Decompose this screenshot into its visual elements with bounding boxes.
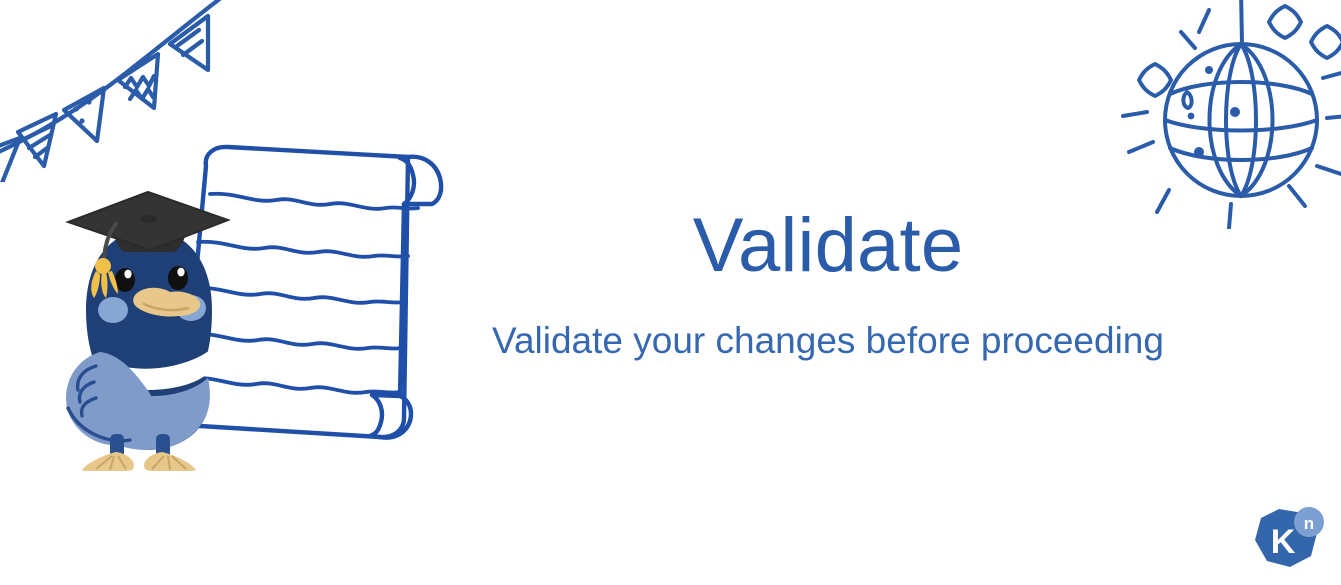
knative-logo: K n [1249, 503, 1327, 575]
mascot-bird [52, 186, 242, 471]
bird-cheek-left [98, 297, 128, 323]
logo-letter-n: n [1304, 514, 1314, 533]
bird-feet [82, 452, 196, 471]
slide-canvas: Validate Validate your changes before pr… [0, 0, 1341, 585]
logo-letter-k: K [1271, 523, 1296, 561]
page-subtitle: Validate your changes before proceeding [466, 284, 1190, 359]
discoball-decoration [1113, 0, 1341, 229]
page-title: Validate [466, 208, 1190, 284]
text-block: Validate Validate your changes before pr… [466, 208, 1190, 359]
